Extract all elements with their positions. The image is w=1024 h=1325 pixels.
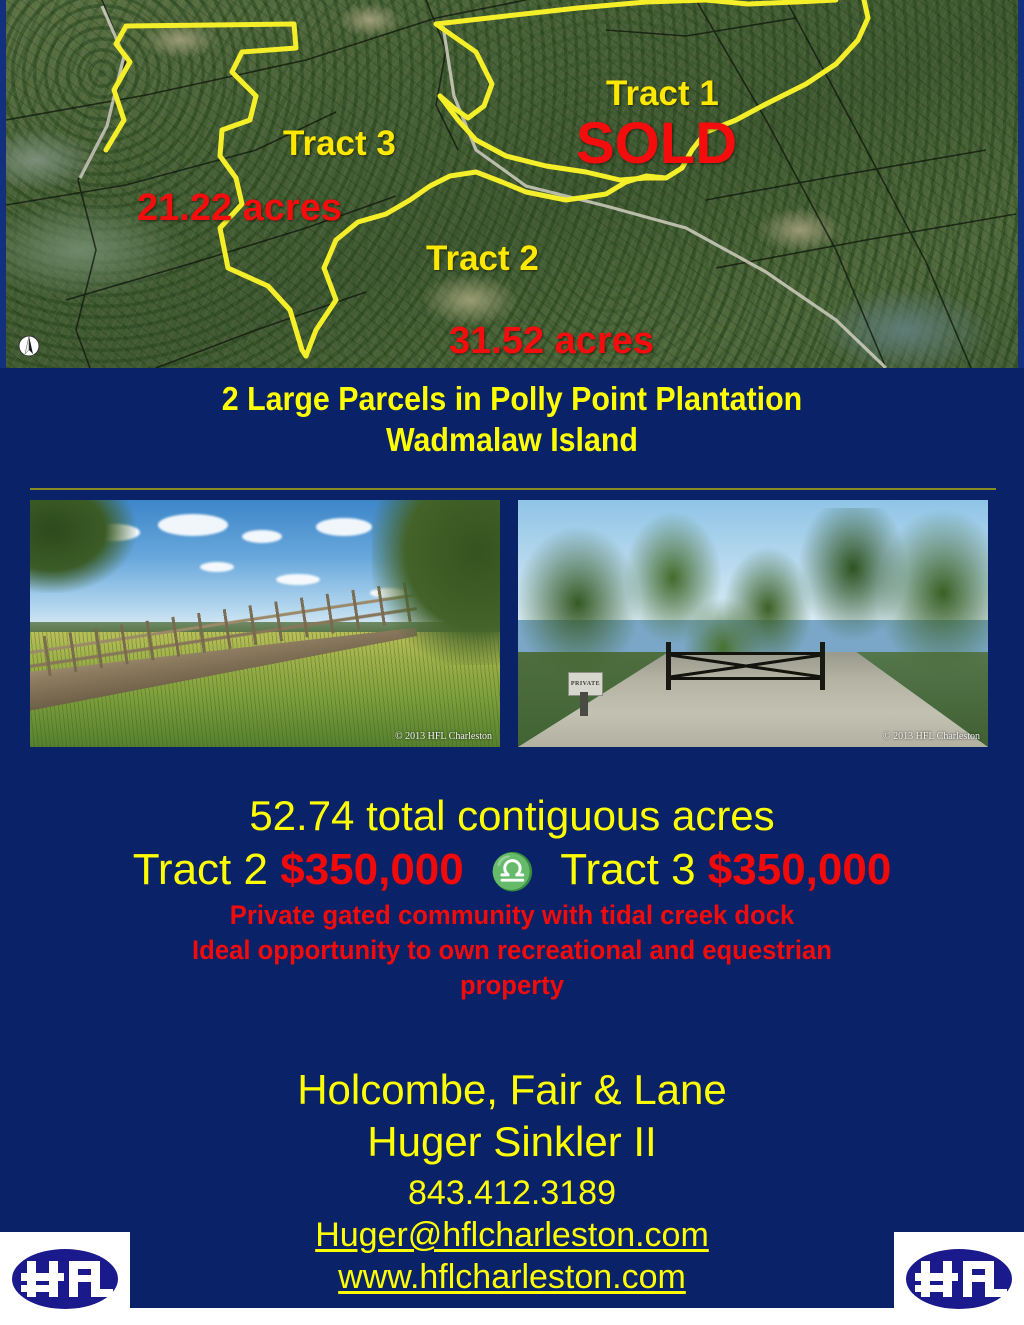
page-title: 2 Large Parcels in Polly Point Plantatio… [41, 378, 983, 460]
cloud [316, 518, 372, 536]
hfl-logo-right [894, 1232, 1024, 1325]
entrance-gate [670, 652, 822, 680]
divider [30, 488, 996, 490]
footer-strip [0, 1308, 1024, 1325]
property-photo-boardwalk: © 2013 HFL Charleston [30, 500, 500, 747]
agent-name: Huger Sinkler II [0, 1116, 1024, 1168]
blurb-line-2: Ideal opportunity to own recreational an… [85, 933, 940, 968]
hfl-logo-icon [905, 1247, 1013, 1311]
map-label-tract2-acres: 31.52 acres [449, 322, 654, 360]
contact-email-link[interactable]: Huger@hflcharleston.com [0, 1214, 1024, 1256]
map-label-tract1: Tract 1 [606, 76, 719, 111]
tract3-price-value: $350,000 [708, 845, 892, 894]
flyer-page: Tract 1 SOLD Tract 3 21.22 acres Tract 2… [0, 0, 1024, 1325]
tract-outline-overlay [6, 0, 1024, 368]
fleuron-ornament-icon: ♎ [476, 851, 549, 892]
contact-phone: 843.412.3189 [0, 1172, 1024, 1214]
map-label-tract3-acres: 21.22 acres [137, 189, 342, 227]
property-description: Private gated community with tidal creek… [85, 898, 940, 1003]
foreground-tree [30, 500, 136, 593]
headline-line-2: Wadmalaw Island [41, 419, 983, 460]
cloud [200, 562, 234, 572]
contact-website-link[interactable]: www.hflcharleston.com [0, 1256, 1024, 1298]
blurb-line-3: property [85, 968, 940, 1003]
gate-post [666, 642, 671, 690]
map-label-sold: SOLD [576, 115, 737, 173]
map-label-tract2: Tract 2 [426, 241, 539, 276]
tract3-price-label: Tract 3 [560, 845, 695, 894]
total-acreage: 52.74 total contiguous acres [0, 792, 1024, 840]
hfl-logo-icon [11, 1247, 119, 1311]
price-row: Tract 2 $350,000 ♎ Tract 3 $350,000 [0, 845, 1024, 897]
gate-post [820, 642, 825, 690]
sign-post [580, 692, 588, 716]
contact-block: Holcombe, Fair & Lane Huger Sinkler II [0, 1064, 1024, 1168]
property-photo-gated-entrance: PRIVATE © 2013 HFL Charleston [518, 500, 988, 747]
cloud [158, 514, 228, 536]
cloud [242, 530, 282, 543]
contact-email-text[interactable]: Huger@hflcharleston.com [315, 1216, 709, 1254]
aerial-map: Tract 1 SOLD Tract 3 21.22 acres Tract 2… [0, 0, 1024, 368]
company-name: Holcombe, Fair & Lane [0, 1064, 1024, 1116]
contact-website-text[interactable]: www.hflcharleston.com [338, 1258, 686, 1296]
north-arrow-icon [18, 334, 40, 358]
tract2-price-label: Tract 2 [133, 845, 268, 894]
photo-watermark: © 2013 HFL Charleston [395, 731, 492, 742]
foreground-tree [372, 500, 500, 665]
photo-watermark: © 2013 HFL Charleston [883, 731, 980, 742]
tract2-price-value: $350,000 [280, 845, 464, 894]
headline-line-1: 2 Large Parcels in Polly Point Plantatio… [41, 378, 983, 419]
hfl-logo-left [0, 1232, 130, 1325]
cloud [276, 574, 320, 585]
blurb-line-1: Private gated community with tidal creek… [85, 898, 940, 933]
map-label-tract3: Tract 3 [283, 126, 396, 161]
